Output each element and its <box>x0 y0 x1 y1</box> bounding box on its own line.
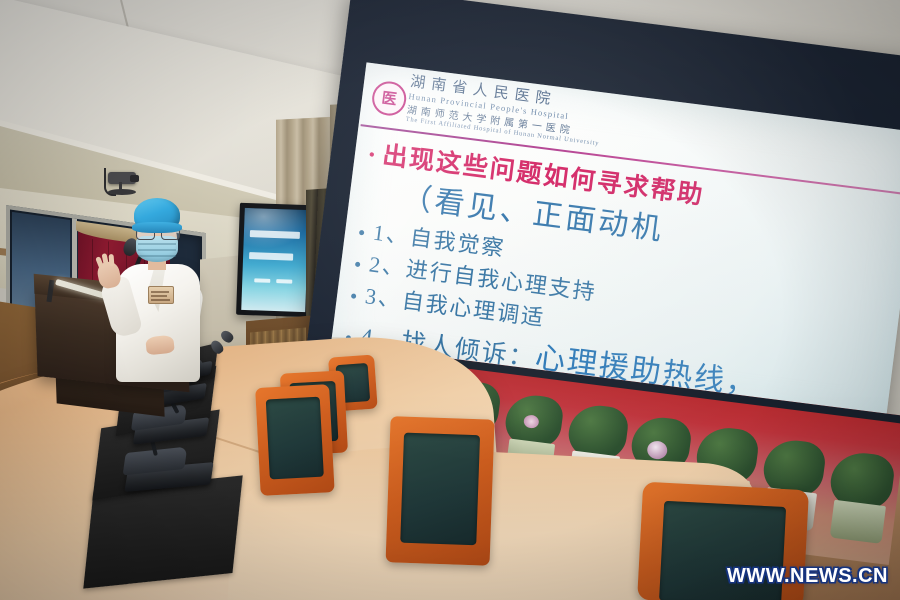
secondary-display-screen <box>241 208 309 312</box>
presenter-right-hand <box>145 335 175 356</box>
news-watermark: WWW.NEWS.CN <box>727 565 888 588</box>
presenter <box>104 198 200 378</box>
secondary-display[interactable] <box>236 203 314 318</box>
presenter-name-badge <box>148 286 174 304</box>
bullet-dot-icon <box>355 262 361 268</box>
monitor-text-line-2 <box>249 252 293 261</box>
photo-scene: 医 湖南省人民医院 Hunan Provincial People's Hosp… <box>0 0 900 600</box>
bullet-dot-icon <box>351 294 357 300</box>
hospital-logo-icon: 医 <box>370 80 408 118</box>
monitor-text-line-4 <box>276 279 292 284</box>
slide-title-bullet-icon: • <box>368 147 378 165</box>
monitor-glare <box>243 208 308 250</box>
projector-mount-plate <box>108 189 136 195</box>
presenter-cap-band <box>132 222 182 233</box>
projector <box>104 172 140 190</box>
monitor-text-line-3 <box>254 278 270 283</box>
bullet-dot-icon <box>359 230 365 236</box>
projector-lens-icon <box>130 175 139 182</box>
